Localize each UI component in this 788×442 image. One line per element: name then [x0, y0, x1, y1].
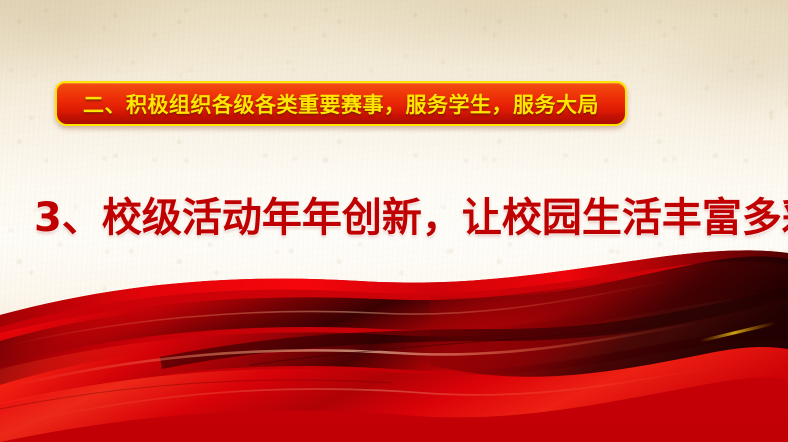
- wave-svg: [0, 237, 788, 442]
- section-banner: 二、积极组织各级各类重要赛事，服务学生，服务大局: [55, 81, 627, 126]
- slide-canvas: 二、积极组织各级各类重要赛事，服务学生，服务大局 3、校级活动年年创新，让校园生…: [0, 0, 788, 442]
- slide-heading: 3、校级活动年年创新，让校园生活丰富多彩: [34, 185, 754, 243]
- section-banner-text: 二、积极组织各级各类重要赛事，服务学生，服务大局: [83, 89, 599, 119]
- red-silk-wave-decoration: [0, 237, 788, 442]
